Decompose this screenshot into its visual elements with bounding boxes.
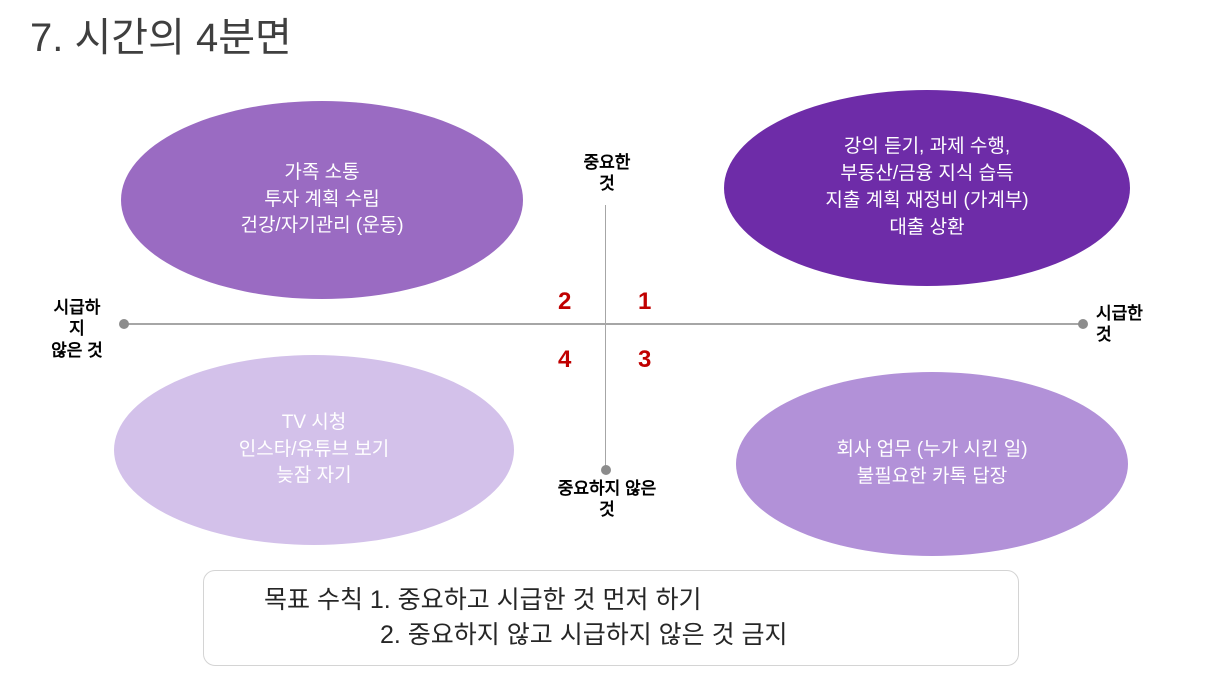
horizontal-axis-line <box>124 323 1084 325</box>
slide-canvas: 7. 시간의 4분면 중요한 것 중요하지 않은 것 시급하 지 않은 것 시급… <box>0 0 1216 684</box>
goal-rule-line-2: 2. 중요하지 않고 시급하지 않은 것 금지 <box>228 618 994 653</box>
quadrant-ellipse-4: TV 시청 인스타/유튜브 보기 늦잠 자기 <box>114 355 514 545</box>
quadrant-ellipse-4-text: TV 시청 인스타/유튜브 보기 늦잠 자기 <box>239 410 389 491</box>
quadrant-number-1: 1 <box>638 290 651 314</box>
axis-label-not-urgent: 시급하 지 않은 것 <box>28 297 126 361</box>
page-title: 7. 시간의 4분면 <box>30 14 292 62</box>
quadrant-ellipse-2-text: 가족 소통 투자 계획 수립 건강/자기관리 (운동) <box>240 160 403 241</box>
axis-endpoint-dot-bottom-icon <box>601 465 611 475</box>
goal-rules-box: 목표 수칙 1. 중요하고 시급한 것 먼저 하기 2. 중요하지 않고 시급하… <box>203 570 1019 666</box>
quadrant-ellipse-1-text: 강의 듣기, 과제 수행, 부동산/금융 지식 습득 지출 계획 재정비 (가계… <box>825 134 1028 242</box>
quadrant-ellipse-1: 강의 듣기, 과제 수행, 부동산/금융 지식 습득 지출 계획 재정비 (가계… <box>724 90 1130 286</box>
quadrant-ellipse-2: 가족 소통 투자 계획 수립 건강/자기관리 (운동) <box>121 101 523 299</box>
goal-rule-line-1: 목표 수칙 1. 중요하고 시급한 것 먼저 하기 <box>228 583 994 618</box>
quadrant-ellipse-3-text: 회사 업무 (누가 시킨 일) 불필요한 카톡 답장 <box>836 437 1027 491</box>
quadrant-number-4: 4 <box>558 348 571 372</box>
quadrant-number-3: 3 <box>638 348 651 372</box>
quadrant-number-2: 2 <box>558 290 571 314</box>
axis-endpoint-dot-right-icon <box>1078 319 1088 329</box>
axis-label-not-important: 중요하지 않은 것 <box>516 478 698 521</box>
vertical-axis-line <box>605 205 606 470</box>
axis-label-important: 중요한 것 <box>552 152 662 195</box>
quadrant-ellipse-3: 회사 업무 (누가 시킨 일) 불필요한 카톡 답장 <box>736 372 1128 556</box>
axis-label-urgent: 시급한 것 <box>1096 303 1200 346</box>
